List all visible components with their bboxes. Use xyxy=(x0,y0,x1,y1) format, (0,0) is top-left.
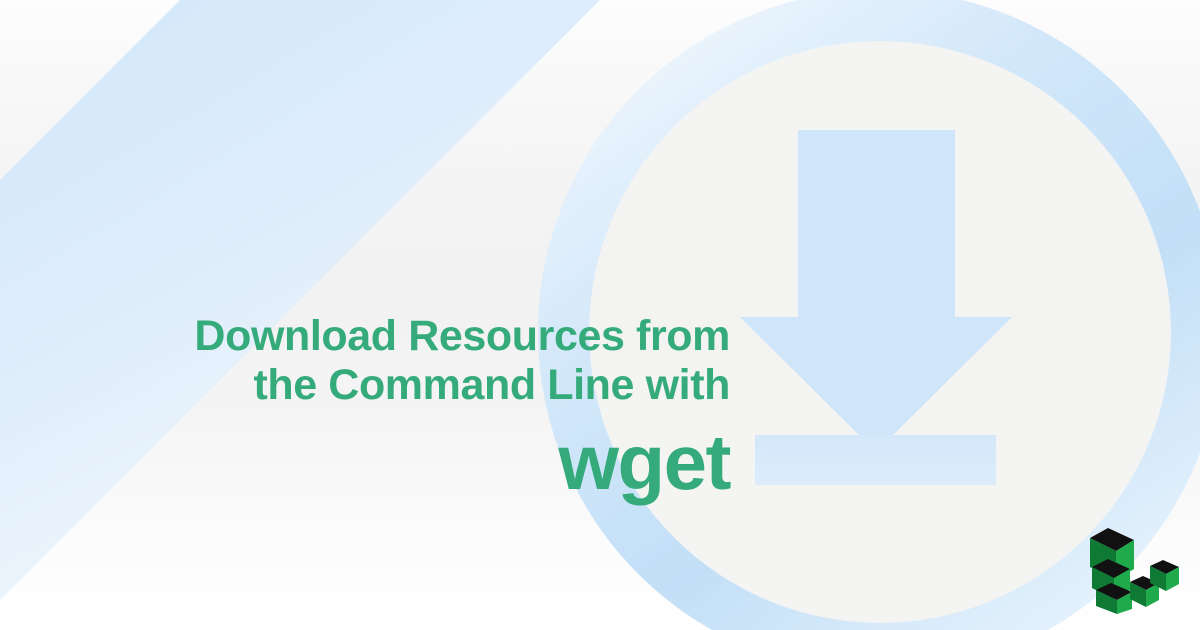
headline-block: Download Resources from the Command Line… xyxy=(0,312,730,508)
headline-line-3-wget: wget xyxy=(0,410,730,508)
banner-root: Download Resources from the Command Line… xyxy=(0,0,1200,630)
download-arrow-base-bar xyxy=(755,435,996,485)
cubes-logo xyxy=(1086,510,1182,614)
headline-line-2: the Command Line with xyxy=(0,361,730,410)
headline-line-1: Download Resources from xyxy=(0,312,730,361)
download-arrow-icon xyxy=(740,130,1012,452)
diagonal-band-shape xyxy=(0,0,620,620)
